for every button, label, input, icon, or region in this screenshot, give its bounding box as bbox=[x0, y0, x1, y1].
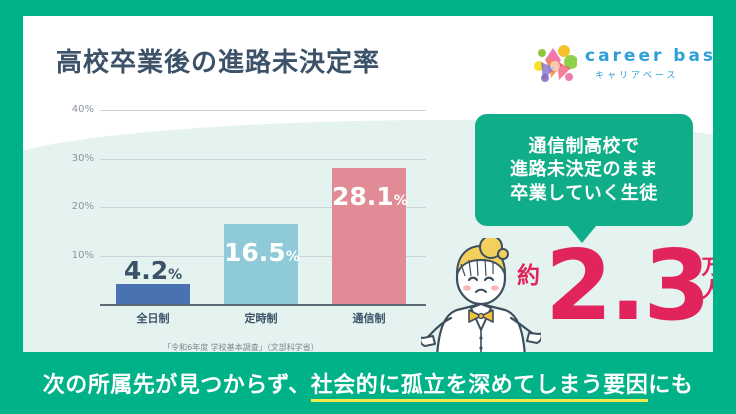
banner-text-before: 次の所属先が見つからず、 bbox=[43, 373, 311, 398]
callout-line-3: 卒業していく生徒 bbox=[510, 182, 657, 205]
bar-chart: 10%20%30%40% 4.2%全日制16.5%定時制28.1%通信制 「令和… bbox=[56, 92, 426, 342]
brand-logo: career base キャリアベース bbox=[533, 42, 698, 88]
y-axis-tick-label: 10% bbox=[56, 250, 94, 261]
callout-line-1: 通信制高校で bbox=[529, 135, 640, 158]
bar-value-unit: % bbox=[168, 267, 182, 283]
infographic-frame: 高校卒業後の進路未決定率 career base キャリア bbox=[0, 0, 736, 414]
highlight-unit: 万 人 bbox=[699, 256, 713, 302]
y-axis-tick-label: 30% bbox=[56, 153, 94, 164]
chart-x-axis-line bbox=[100, 304, 426, 306]
bottom-banner: 次の所属先が見つからず、社会的に孤立を深めてしまう要因にも bbox=[0, 352, 736, 414]
bar-value-unit: % bbox=[394, 193, 408, 209]
chart-bar bbox=[116, 284, 190, 304]
x-axis-category-label: 定時制 bbox=[224, 310, 298, 326]
callout-line-2: 進路未決定のまま bbox=[510, 158, 658, 181]
x-axis-category-label: 通信制 bbox=[332, 310, 406, 326]
chart-source-note: 「令和6年度 学校基本調査」（文部科学省） bbox=[56, 342, 426, 352]
highlight-unit-man: 万 bbox=[699, 256, 713, 279]
career-base-logo-mark-icon bbox=[533, 44, 577, 86]
bar-value-label: 4.2% bbox=[116, 256, 190, 285]
gridline bbox=[100, 159, 426, 160]
highlight-number: 2.3 bbox=[545, 241, 708, 330]
approx-label: 約 bbox=[517, 256, 540, 290]
y-axis-tick-label: 20% bbox=[56, 201, 94, 212]
logo-wordmark-japanese: キャリアベース bbox=[595, 68, 678, 81]
bar-value-label: 16.5% bbox=[224, 238, 298, 267]
bar-value: 28.1 bbox=[332, 182, 394, 211]
bar-value-label: 28.1% bbox=[332, 182, 406, 211]
x-axis-category-label: 全日制 bbox=[116, 310, 190, 326]
logo-wordmark: career base bbox=[585, 46, 713, 66]
banner-text-after: にも bbox=[648, 373, 693, 398]
bar-value: 16.5 bbox=[224, 238, 286, 267]
banner-text-underlined: 社会的に孤立を深めてしまう要因 bbox=[311, 373, 649, 402]
callout-box: 通信制高校で 進路未決定のまま 卒業していく生徒 bbox=[475, 114, 693, 226]
bar-value: 4.2 bbox=[124, 256, 168, 285]
highlight-unit-nin: 人 bbox=[699, 279, 713, 302]
content-card: 高校卒業後の進路未決定率 career base キャリア bbox=[23, 16, 713, 352]
banner-text: 次の所属先が見つからず、社会的に孤立を深めてしまう要因にも bbox=[43, 367, 694, 399]
gridline bbox=[100, 110, 426, 111]
page-title: 高校卒業後の進路未決定率 bbox=[56, 42, 380, 79]
y-axis-tick-label: 40% bbox=[56, 104, 94, 115]
bar-value-unit: % bbox=[286, 249, 300, 265]
